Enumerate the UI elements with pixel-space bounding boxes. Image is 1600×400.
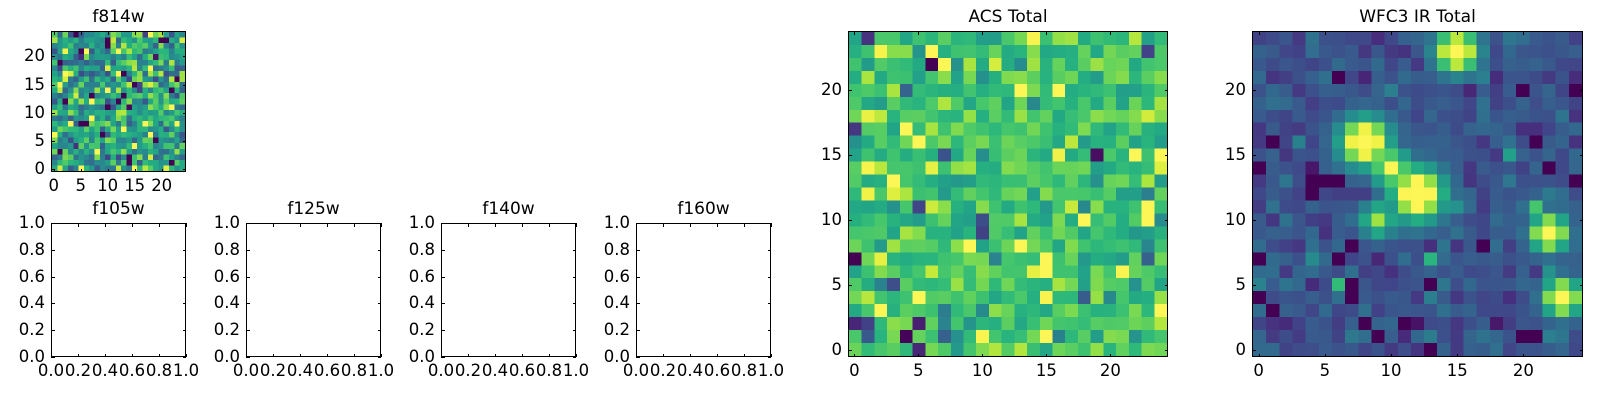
ytick-right-f160w (768, 250, 772, 251)
ytick-f814w (51, 169, 55, 170)
ytick-right-f125w (378, 250, 382, 251)
xticklabel-f160w: 0.8 (731, 363, 757, 380)
xtick-wfc3_ir_total (1523, 354, 1524, 358)
xticklabel-f140w: 1.0 (563, 363, 589, 380)
yticklabel-f160w: 0.8 (578, 242, 630, 259)
ytick-f160w (636, 223, 640, 224)
xtick-top-f125w (273, 223, 274, 227)
yticklabel-acs_total: 0 (790, 342, 842, 359)
ytick-acs_total (848, 155, 852, 156)
ytick-right-f140w (573, 330, 577, 331)
xtick-top-f125w (381, 223, 382, 227)
xtick-top-f140w (468, 223, 469, 227)
ytick-wfc3_ir_total (1252, 220, 1256, 221)
ytick-f105w (51, 277, 55, 278)
xtick-top-f160w (744, 223, 745, 227)
xticklabel-f125w: 0.2 (260, 363, 286, 380)
xtick-acs_total (918, 354, 919, 358)
xticklabel-wfc3_ir_total: 20 (1513, 363, 1534, 380)
xtick-top-acs_total (1110, 31, 1111, 35)
xtick-acs_total (1046, 354, 1047, 358)
ytick-f140w (441, 303, 445, 304)
ytick-right-acs_total (1165, 350, 1169, 351)
xticklabel-f140w: 0.4 (482, 363, 508, 380)
xticklabel-f105w: 0.2 (65, 363, 91, 380)
axes-acs_total (848, 31, 1168, 357)
image-acs_total (849, 32, 1167, 356)
ytick-right-acs_total (1165, 90, 1169, 91)
xtick-top-f105w (159, 223, 160, 227)
xtick-f105w (78, 354, 79, 358)
xticklabel-f814w: 0 (48, 178, 59, 195)
xticklabel-acs_total: 0 (849, 363, 860, 380)
ytick-right-f814w (183, 113, 187, 114)
ytick-wfc3_ir_total (1252, 350, 1256, 351)
ytick-wfc3_ir_total (1252, 155, 1256, 156)
xtick-top-acs_total (854, 31, 855, 35)
xtick-top-f140w (522, 223, 523, 227)
axes-f105w (51, 223, 186, 357)
ytick-f105w (51, 223, 55, 224)
xticklabel-acs_total: 20 (1100, 363, 1121, 380)
yticklabel-wfc3_ir_total: 15 (1194, 147, 1246, 164)
xticklabel-wfc3_ir_total: 10 (1381, 363, 1402, 380)
ytick-right-f160w (768, 223, 772, 224)
xticklabel-f814w: 20 (151, 178, 172, 195)
ytick-right-f105w (183, 223, 187, 224)
xticklabel-acs_total: 15 (1036, 363, 1057, 380)
xtick-f140w (495, 354, 496, 358)
ytick-f140w (441, 357, 445, 358)
ytick-right-f160w (768, 357, 772, 358)
xtick-wfc3_ir_total (1325, 354, 1326, 358)
ytick-f814w (51, 141, 55, 142)
yticklabel-f140w: 0.8 (383, 242, 435, 259)
xtick-top-wfc3_ir_total (1391, 31, 1392, 35)
yticklabel-f160w: 0.6 (578, 268, 630, 285)
xtick-f140w (576, 354, 577, 358)
ytick-right-wfc3_ir_total (1580, 90, 1584, 91)
xtick-acs_total (982, 354, 983, 358)
ytick-right-f160w (768, 330, 772, 331)
ytick-right-f140w (573, 223, 577, 224)
ytick-right-wfc3_ir_total (1580, 350, 1584, 351)
ytick-f140w (441, 223, 445, 224)
yticklabel-f814w: 10 (0, 105, 45, 122)
ytick-right-f105w (183, 250, 187, 251)
yticklabel-wfc3_ir_total: 5 (1194, 277, 1246, 294)
xticklabel-f105w: 0.8 (146, 363, 172, 380)
xticklabel-f160w: 0.4 (677, 363, 703, 380)
ytick-right-f814w (183, 169, 187, 170)
yticklabel-f125w: 0.6 (188, 268, 240, 285)
axes-f125w (246, 223, 381, 357)
ytick-f125w (246, 223, 250, 224)
yticklabel-f140w: 0.6 (383, 268, 435, 285)
xtick-top-f105w (132, 223, 133, 227)
ytick-f105w (51, 357, 55, 358)
xticklabel-f814w: 5 (75, 178, 86, 195)
ytick-acs_total (848, 90, 852, 91)
title-f125w: f125w (246, 201, 381, 218)
xtick-top-f140w (576, 223, 577, 227)
xtick-f160w (690, 354, 691, 358)
xtick-f125w (354, 354, 355, 358)
ytick-right-f140w (573, 357, 577, 358)
ytick-f125w (246, 357, 250, 358)
yticklabel-f160w: 0.4 (578, 295, 630, 312)
matplotlib-figure: f814w0510152005101520f105w0.00.20.40.60.… (0, 0, 1600, 400)
xtick-f160w (663, 354, 664, 358)
xtick-acs_total (854, 354, 855, 358)
xtick-top-f140w (549, 223, 550, 227)
xtick-top-f160w (717, 223, 718, 227)
ytick-right-f125w (378, 277, 382, 278)
xtick-wfc3_ir_total (1391, 354, 1392, 358)
xticklabel-acs_total: 5 (913, 363, 924, 380)
ytick-right-f125w (378, 303, 382, 304)
yticklabel-f105w: 0.2 (0, 322, 45, 339)
xtick-top-wfc3_ir_total (1325, 31, 1326, 35)
ytick-f105w (51, 250, 55, 251)
yticklabel-f160w: 0.0 (578, 349, 630, 366)
xtick-top-acs_total (982, 31, 983, 35)
ytick-f140w (441, 250, 445, 251)
xtick-f814w (162, 169, 163, 173)
xticklabel-f105w: 1.0 (173, 363, 199, 380)
yticklabel-f105w: 0.8 (0, 242, 45, 259)
xtick-top-f105w (105, 223, 106, 227)
yticklabel-f814w: 15 (0, 76, 45, 93)
yticklabel-wfc3_ir_total: 0 (1194, 342, 1246, 359)
axes-f814w (51, 31, 186, 172)
xtick-top-f105w (78, 223, 79, 227)
yticklabel-f140w: 0.0 (383, 349, 435, 366)
xticklabel-wfc3_ir_total: 0 (1253, 363, 1264, 380)
xtick-f105w (186, 354, 187, 358)
xtick-wfc3_ir_total (1457, 354, 1458, 358)
yticklabel-f125w: 0.2 (188, 322, 240, 339)
xticklabel-f125w: 0.4 (287, 363, 313, 380)
image-wfc3_ir_total (1253, 32, 1582, 356)
title-wfc3_ir_total: WFC3 IR Total (1252, 9, 1583, 26)
yticklabel-f105w: 1.0 (0, 215, 45, 232)
ytick-right-acs_total (1165, 155, 1169, 156)
xtick-wfc3_ir_total (1259, 354, 1260, 358)
xtick-f105w (105, 354, 106, 358)
xticklabel-f814w: 10 (97, 178, 118, 195)
yticklabel-f125w: 0.8 (188, 242, 240, 259)
title-f160w: f160w (636, 201, 771, 218)
xtick-acs_total (1110, 354, 1111, 358)
ytick-f160w (636, 330, 640, 331)
ytick-wfc3_ir_total (1252, 285, 1256, 286)
xtick-top-wfc3_ir_total (1523, 31, 1524, 35)
title-acs_total: ACS Total (848, 9, 1168, 26)
xtick-top-f814w (81, 31, 82, 35)
xtick-top-f105w (186, 223, 187, 227)
ytick-right-f160w (768, 277, 772, 278)
ytick-acs_total (848, 350, 852, 351)
yticklabel-f105w: 0.4 (0, 295, 45, 312)
title-f140w: f140w (441, 201, 576, 218)
ytick-f160w (636, 303, 640, 304)
ytick-wfc3_ir_total (1252, 90, 1256, 91)
title-f814w: f814w (51, 9, 186, 26)
ytick-right-f140w (573, 250, 577, 251)
ytick-f814w (51, 113, 55, 114)
ytick-right-f814w (183, 56, 187, 57)
xtick-top-f160w (663, 223, 664, 227)
yticklabel-f140w: 1.0 (383, 215, 435, 232)
ytick-f160w (636, 277, 640, 278)
xtick-top-f160w (690, 223, 691, 227)
xticklabel-f140w: 0.2 (455, 363, 481, 380)
xtick-top-f140w (495, 223, 496, 227)
xtick-f160w (744, 354, 745, 358)
ytick-right-f125w (378, 357, 382, 358)
xtick-top-f814w (162, 31, 163, 35)
yticklabel-f814w: 20 (0, 48, 45, 65)
yticklabel-wfc3_ir_total: 10 (1194, 212, 1246, 229)
xtick-f125w (381, 354, 382, 358)
xticklabel-f140w: 0.8 (536, 363, 562, 380)
yticklabel-f160w: 1.0 (578, 215, 630, 232)
xticklabel-f125w: 0.6 (314, 363, 340, 380)
yticklabel-f125w: 1.0 (188, 215, 240, 232)
ytick-right-f105w (183, 330, 187, 331)
ytick-right-wfc3_ir_total (1580, 155, 1584, 156)
ytick-right-f125w (378, 223, 382, 224)
xtick-top-acs_total (1046, 31, 1047, 35)
ytick-f140w (441, 330, 445, 331)
xtick-top-f125w (300, 223, 301, 227)
yticklabel-f140w: 0.4 (383, 295, 435, 312)
ytick-right-f814w (183, 141, 187, 142)
image-f814w (52, 32, 185, 171)
ytick-f140w (441, 277, 445, 278)
title-f105w: f105w (51, 201, 186, 218)
xticklabel-f814w: 15 (124, 178, 145, 195)
xtick-f814w (81, 169, 82, 173)
xticklabel-f105w: 0.6 (119, 363, 145, 380)
ytick-right-f105w (183, 357, 187, 358)
yticklabel-f160w: 0.2 (578, 322, 630, 339)
ytick-right-f160w (768, 303, 772, 304)
ytick-f814w (51, 85, 55, 86)
xtick-f140w (522, 354, 523, 358)
yticklabel-f125w: 0.0 (188, 349, 240, 366)
xtick-f125w (327, 354, 328, 358)
yticklabel-acs_total: 20 (790, 81, 842, 98)
ytick-right-acs_total (1165, 285, 1169, 286)
xtick-f125w (273, 354, 274, 358)
xtick-top-f814w (108, 31, 109, 35)
xtick-f814w (135, 169, 136, 173)
xtick-f105w (159, 354, 160, 358)
ytick-f814w (51, 56, 55, 57)
yticklabel-wfc3_ir_total: 20 (1194, 81, 1246, 98)
yticklabel-acs_total: 10 (790, 212, 842, 229)
yticklabel-f814w: 5 (0, 133, 45, 150)
ytick-f160w (636, 357, 640, 358)
ytick-f105w (51, 330, 55, 331)
yticklabel-f125w: 0.4 (188, 295, 240, 312)
xticklabel-acs_total: 10 (972, 363, 993, 380)
xtick-top-acs_total (918, 31, 919, 35)
xtick-top-wfc3_ir_total (1457, 31, 1458, 35)
xtick-f125w (300, 354, 301, 358)
axes-wfc3_ir_total (1252, 31, 1583, 357)
xtick-top-f125w (327, 223, 328, 227)
ytick-f160w (636, 250, 640, 251)
ytick-right-f105w (183, 277, 187, 278)
ytick-right-f814w (183, 85, 187, 86)
yticklabel-acs_total: 15 (790, 147, 842, 164)
xticklabel-wfc3_ir_total: 15 (1447, 363, 1468, 380)
yticklabel-f105w: 0.6 (0, 268, 45, 285)
xtick-top-f125w (354, 223, 355, 227)
yticklabel-acs_total: 5 (790, 277, 842, 294)
xticklabel-f125w: 0.8 (341, 363, 367, 380)
xtick-f140w (549, 354, 550, 358)
ytick-f125w (246, 330, 250, 331)
ytick-right-wfc3_ir_total (1580, 220, 1584, 221)
axes-f160w (636, 223, 771, 357)
ytick-f105w (51, 303, 55, 304)
xticklabel-f160w: 0.2 (650, 363, 676, 380)
ytick-acs_total (848, 220, 852, 221)
ytick-right-wfc3_ir_total (1580, 285, 1584, 286)
axes-f140w (441, 223, 576, 357)
ytick-f125w (246, 250, 250, 251)
yticklabel-f105w: 0.0 (0, 349, 45, 366)
xticklabel-wfc3_ir_total: 5 (1320, 363, 1331, 380)
xticklabel-f160w: 0.6 (704, 363, 730, 380)
ytick-right-f125w (378, 330, 382, 331)
xtick-f814w (108, 169, 109, 173)
ytick-f125w (246, 303, 250, 304)
ytick-right-f140w (573, 303, 577, 304)
ytick-right-f105w (183, 303, 187, 304)
xtick-f160w (771, 354, 772, 358)
xtick-top-f814w (135, 31, 136, 35)
xtick-f140w (468, 354, 469, 358)
xtick-f160w (717, 354, 718, 358)
xticklabel-f140w: 0.6 (509, 363, 535, 380)
ytick-right-acs_total (1165, 220, 1169, 221)
yticklabel-f140w: 0.2 (383, 322, 435, 339)
ytick-acs_total (848, 285, 852, 286)
xticklabel-f105w: 0.4 (92, 363, 118, 380)
xticklabel-f160w: 1.0 (758, 363, 784, 380)
yticklabel-f814w: 0 (0, 161, 45, 178)
xticklabel-f125w: 1.0 (368, 363, 394, 380)
ytick-right-f140w (573, 277, 577, 278)
xtick-top-f160w (771, 223, 772, 227)
xtick-top-wfc3_ir_total (1259, 31, 1260, 35)
xtick-top-f814w (54, 31, 55, 35)
ytick-f125w (246, 277, 250, 278)
xtick-f105w (132, 354, 133, 358)
